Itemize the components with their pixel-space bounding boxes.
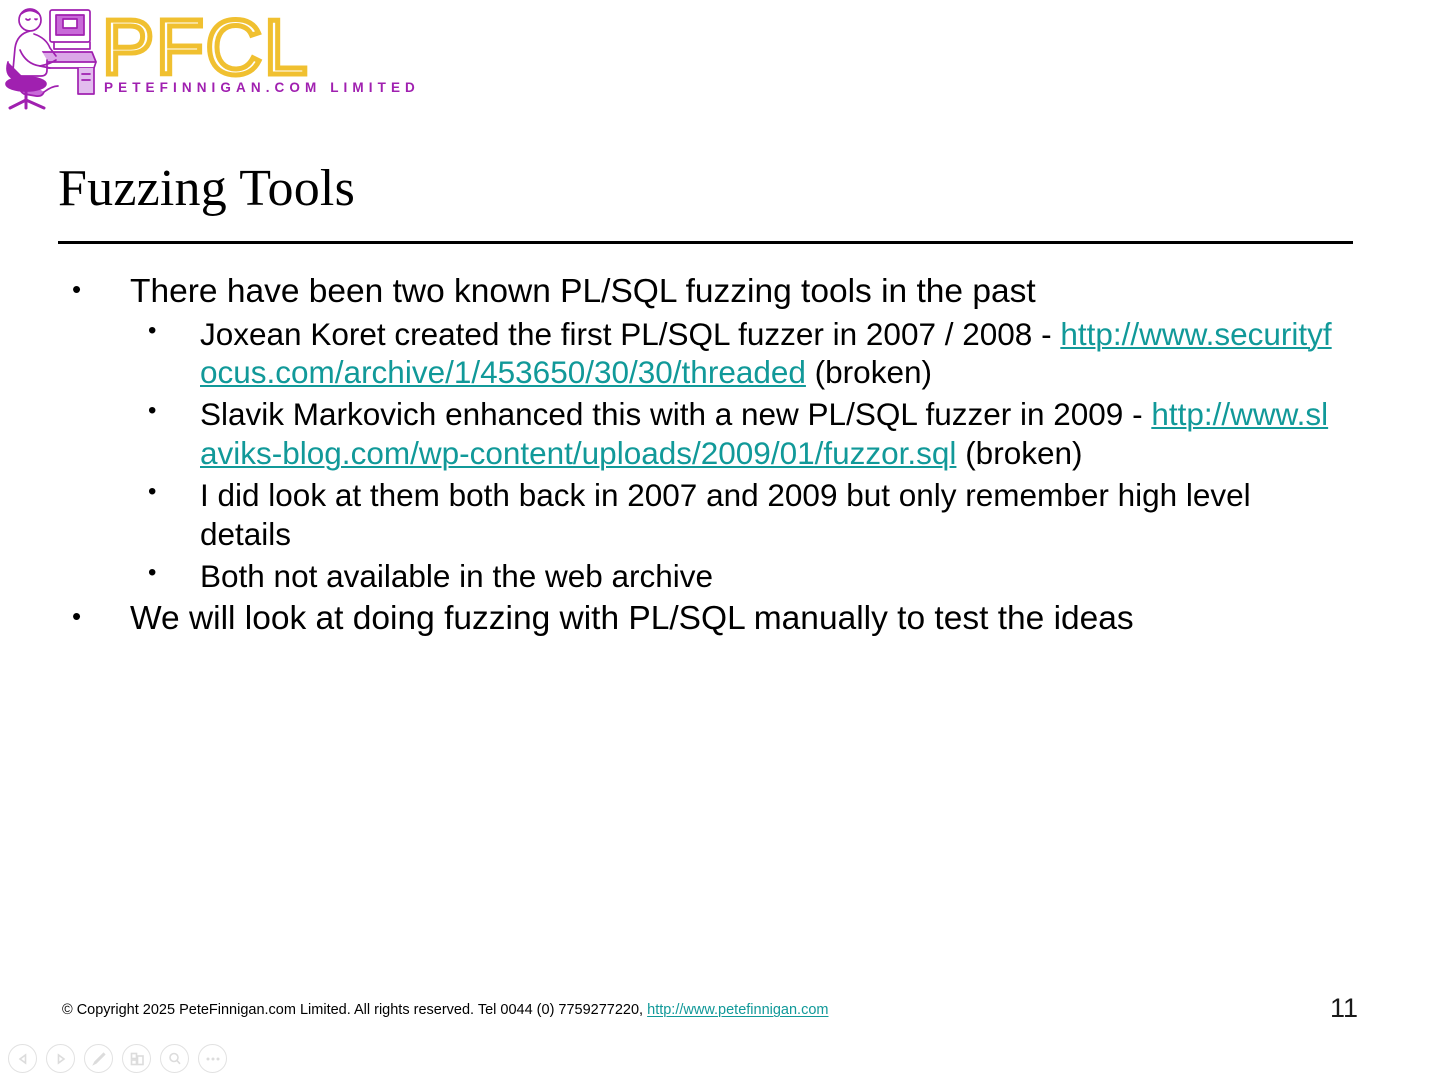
zoom-button[interactable] [160,1044,189,1073]
brand-logo: PFCL PETEFINNIGAN.COM LIMITED [0,2,430,112]
previous-slide-button[interactable] [8,1044,37,1073]
bullet-marker: • [148,561,156,585]
bullet-level-1: •There have been two known PL/SQL fuzzin… [0,272,1440,313]
bullet-text-run: Slavik Markovich enhanced this with a ne… [200,396,1151,432]
bullet-text-run: (broken) [806,354,932,390]
slide-body: •There have been two known PL/SQL fuzzin… [0,272,1440,641]
bullet-text-run: Joxean Koret created the first PL/SQL fu… [200,316,1060,352]
bullet-level-2: •Joxean Koret created the first PL/SQL f… [0,315,1440,393]
bullet-text: There have been two known PL/SQL fuzzing… [130,272,1300,313]
bullet-level-2: •Both not available in the web archive [0,557,1440,596]
bullet-text-run: I did look at them both back in 2007 and… [200,477,1251,552]
page-number: 11 [1330,993,1358,1024]
triangle-left-icon [16,1052,30,1066]
title-divider [58,241,1353,244]
bullet-text-run: (broken) [956,435,1082,471]
bullet-text-run: Both not available in the web archive [200,558,713,594]
bullet-text: We will look at doing fuzzing with PL/SQ… [130,599,1300,640]
pen-tool-button[interactable] [84,1044,113,1073]
bullet-level-2: •I did look at them both back in 2007 an… [0,476,1440,554]
person-at-computer-icon [4,4,100,112]
page-title: Fuzzing Tools [58,162,355,217]
ellipsis-icon [204,1055,222,1063]
bullet-text: I did look at them both back in 2007 and… [200,476,1340,554]
logo-wordmark-text: PFCL [102,3,309,91]
logo-tagline: PETEFINNIGAN.COM LIMITED [104,80,420,95]
footer-copyright: © Copyright 2025 PeteFinnigan.com Limite… [62,1002,647,1018]
bullet-marker: • [148,319,156,343]
bullet-level-2: •Slavik Markovich enhanced this with a n… [0,395,1440,473]
pen-icon [91,1051,107,1067]
bullet-text: Joxean Koret created the first PL/SQL fu… [200,315,1340,393]
bullet-text-run: We will look at doing fuzzing with PL/SQ… [130,600,1134,637]
bullet-text: Both not available in the web archive [200,557,1340,596]
slide-overview-button[interactable] [122,1044,151,1073]
more-options-button[interactable] [198,1044,227,1073]
bullet-marker: • [148,399,156,423]
bullet-marker: • [72,603,81,629]
triangle-right-icon [54,1052,68,1066]
presentation-toolbar [8,1044,227,1073]
bullet-marker: • [148,480,156,504]
next-slide-button[interactable] [46,1044,75,1073]
bullet-text-run: There have been two known PL/SQL fuzzing… [130,273,1036,310]
grid-layout-icon [129,1051,145,1067]
magnifier-icon [167,1051,183,1067]
footer-website-link[interactable]: http://www.petefinnigan.com [647,1002,828,1018]
footer: © Copyright 2025 PeteFinnigan.com Limite… [62,1002,828,1018]
bullet-text: Slavik Markovich enhanced this with a ne… [200,395,1340,473]
bullet-level-1: •We will look at doing fuzzing with PL/S… [0,599,1440,640]
bullet-marker: • [72,276,81,302]
